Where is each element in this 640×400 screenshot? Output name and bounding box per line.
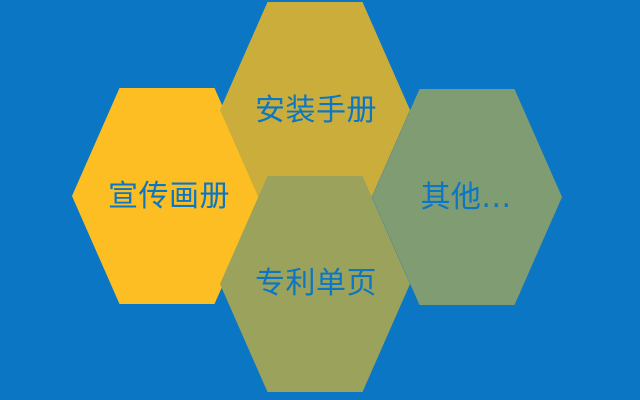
hexagon-label-installation-manual: 安装手册 [255,96,377,126]
hexagon-label-others: 其他... [420,183,511,213]
hexagon-diagram-canvas: 宣传画册 安装手册 专利单页 其他... [0,0,640,400]
hexagon-label-promotional-brochure: 宣传画册 [108,182,230,212]
hexagon-label-patent-flyer: 专利单页 [255,269,377,299]
